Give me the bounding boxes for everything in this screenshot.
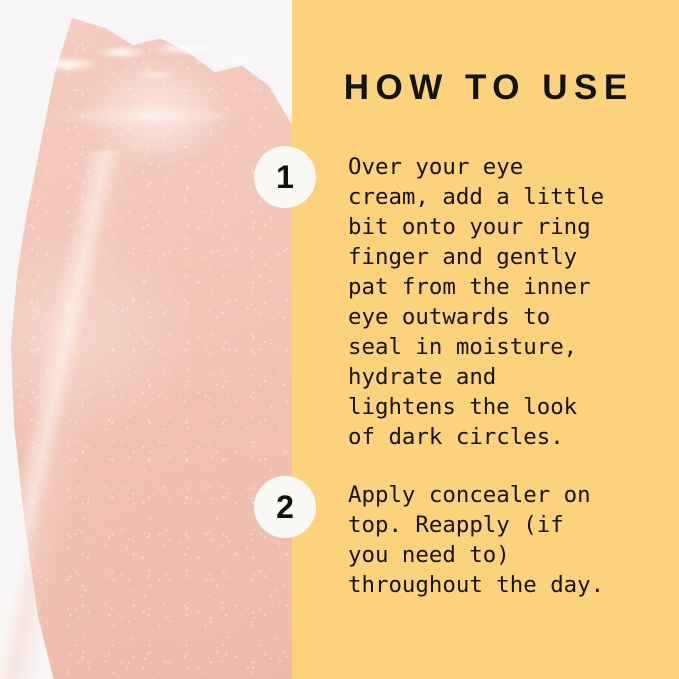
how-to-use-infographic: HOW TO USE Over your eye cream, add a li… — [0, 0, 679, 679]
step-item: Over your eye cream, add a little bit on… — [348, 152, 664, 452]
instructions-panel: HOW TO USE Over your eye cream, add a li… — [292, 0, 679, 679]
step-number-badge-2: 2 — [254, 476, 316, 538]
steps-list: Over your eye cream, add a little bit on… — [348, 152, 664, 600]
step-item: Apply concealer on top. Reapply (if you … — [348, 480, 664, 600]
step-description: Over your eye cream, add a little bit on… — [348, 152, 664, 452]
page-title: HOW TO USE — [292, 70, 679, 105]
cream-swatch-body — [0, 18, 292, 679]
step-description: Apply concealer on top. Reapply (if you … — [348, 480, 664, 600]
product-swatch-panel — [0, 0, 292, 679]
step-number-badge-1: 1 — [254, 146, 316, 208]
cream-swatch-image — [0, 0, 292, 679]
shimmer-texture-overlay — [0, 18, 292, 679]
